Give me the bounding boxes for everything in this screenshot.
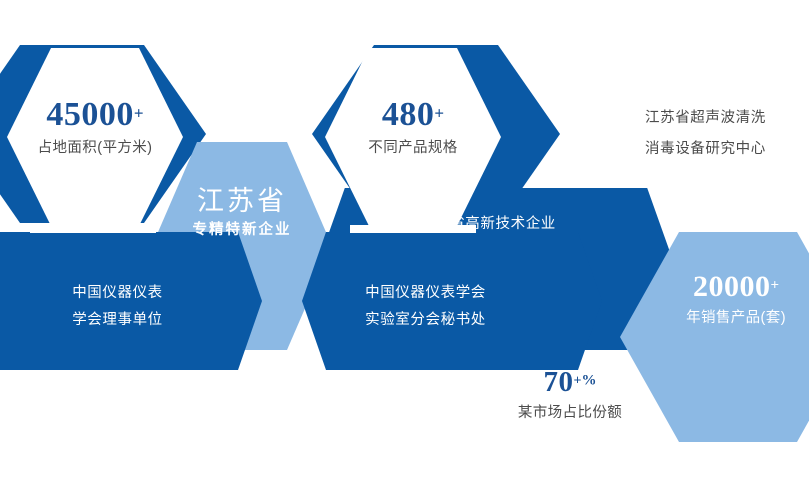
market-share-stat: 70+% 某市场占比份额 <box>495 368 645 421</box>
province-enterprise-subtitle: 专精特新企业 <box>152 223 332 238</box>
specs-stat: 480+ 不同产品规格 <box>333 98 493 156</box>
area-stat: 45000+ 占地面积(平方米) <box>15 98 175 156</box>
area-stat-caption: 占地面积(平方米) <box>15 141 175 156</box>
specs-stat-suffix: + <box>434 104 444 123</box>
annual-sales-stat: 20000+ 年销售产品(套) <box>636 272 809 326</box>
market-share-unit: % <box>581 373 596 389</box>
research-center-line2: 消毒设备研究中心 <box>645 134 766 165</box>
market-share-caption: 某市场占比份额 <box>495 406 645 421</box>
high-tech-text: 江苏省高新技术企业 <box>420 211 650 238</box>
research-center-label: 江苏省超声波清洗 消毒设备研究中心 <box>645 103 766 165</box>
province-enterprise-title: 江苏省 <box>152 188 332 215</box>
market-share-number: 70 <box>544 366 574 398</box>
area-hex-notch <box>30 225 156 233</box>
specs-stat-number: 480 <box>382 96 435 133</box>
lab-branch-label: 中国仪器仪表学会 实验室分会秘书处 <box>318 280 533 334</box>
area-stat-suffix: + <box>134 104 144 123</box>
infographic-canvas: 45000+ 占地面积(平方米) 480+ 不同产品规格 江苏省 专精特新企业 … <box>0 0 809 487</box>
instrument-council-line2: 学会理事单位 <box>10 307 225 334</box>
annual-sales-number: 20000 <box>693 270 771 303</box>
annual-sales-caption: 年销售产品(套) <box>636 311 809 326</box>
high-tech-label: 江苏省高新技术企业 <box>420 211 650 238</box>
specs-stat-caption: 不同产品规格 <box>333 141 493 156</box>
area-stat-number: 45000 <box>46 96 134 133</box>
province-enterprise-badge: 江苏省 专精特新企业 <box>152 188 332 238</box>
lab-branch-line2: 实验室分会秘书处 <box>318 307 533 334</box>
lab-branch-line1: 中国仪器仪表学会 <box>318 280 533 307</box>
instrument-council-label: 中国仪器仪表 学会理事单位 <box>10 280 225 334</box>
instrument-council-line1: 中国仪器仪表 <box>10 280 225 307</box>
annual-sales-suffix: + <box>770 278 779 294</box>
research-center-line1: 江苏省超声波清洗 <box>645 103 766 134</box>
